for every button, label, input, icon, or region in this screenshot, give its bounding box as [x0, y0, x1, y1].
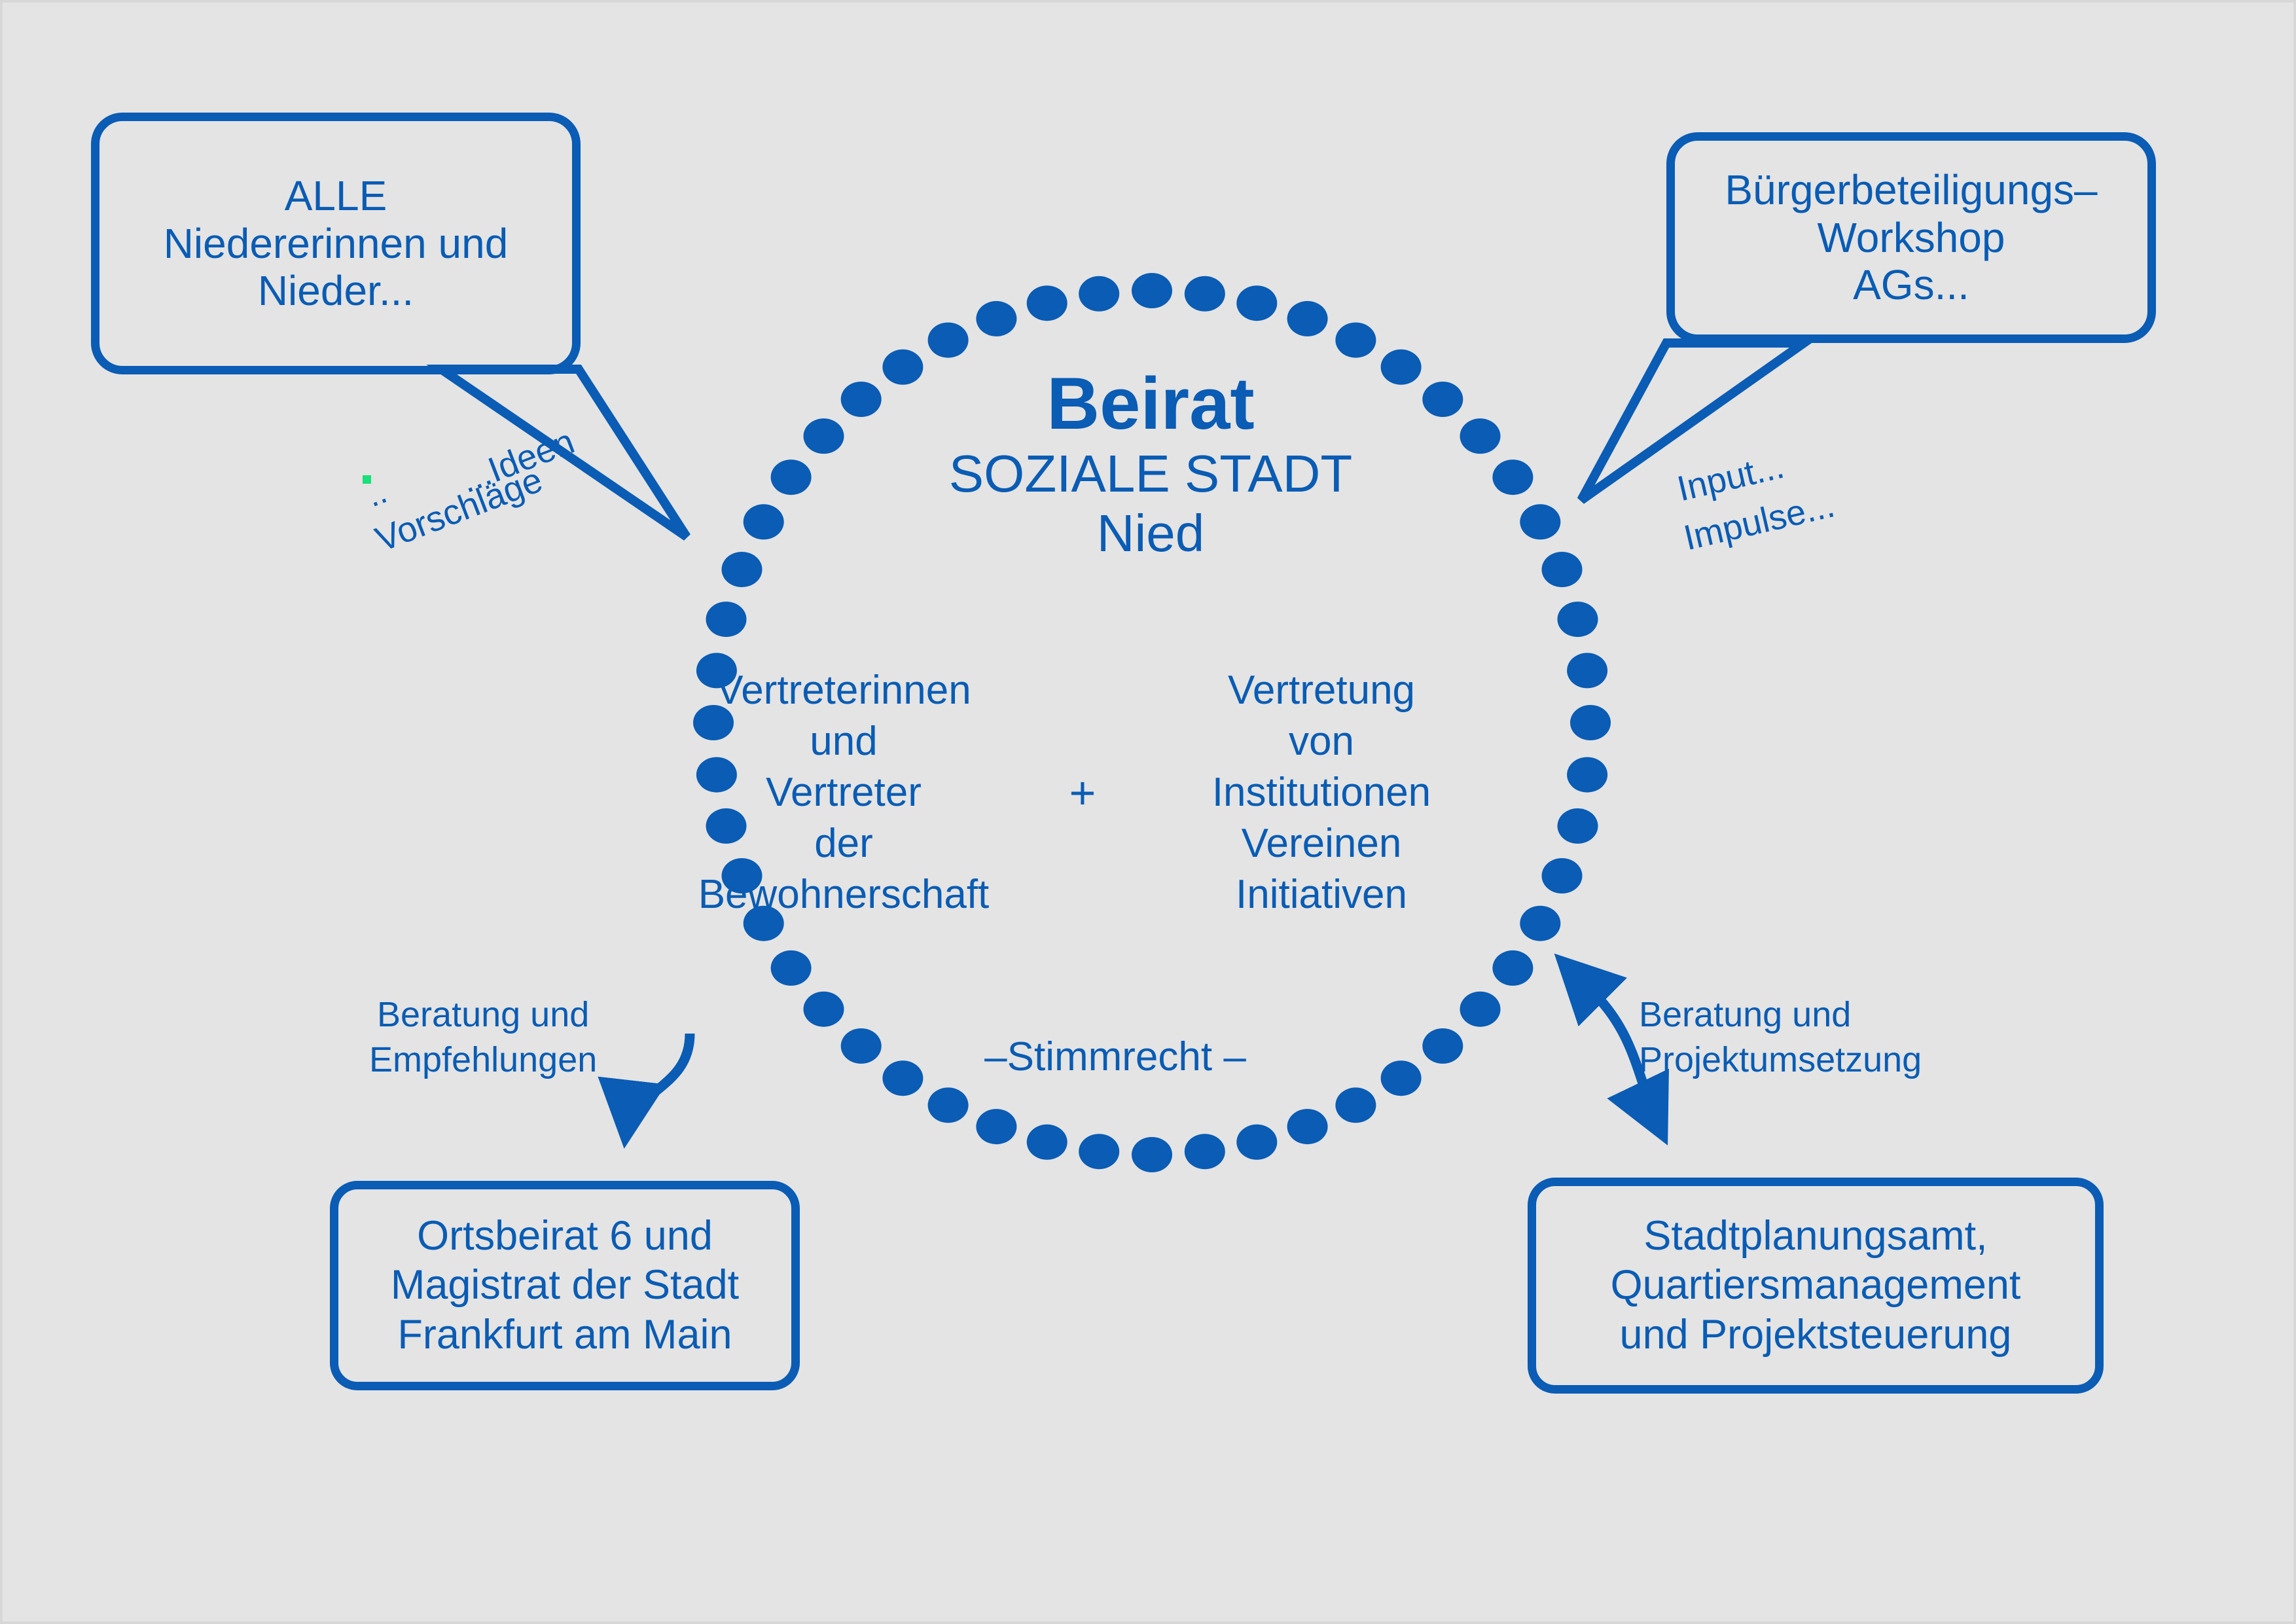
box-right-line-1: Stadtplanungsamt, — [1643, 1212, 1987, 1261]
right-col-line-5: Initiativen — [1168, 869, 1475, 920]
circle-subtitle: SOZIALE STADT — [791, 444, 1511, 503]
circle-heading-group: Beirat SOZIALE STADT Nied — [791, 365, 1511, 563]
box-ortsbeirat-magistrat[interactable]: Ortsbeirat 6 und Magistrat der Stadt Fra… — [330, 1181, 800, 1390]
box-left-line-2: Magistrat der Stadt — [391, 1261, 739, 1310]
label-beratung-empfehlungen-line-1: Beratung und — [369, 992, 597, 1038]
circle-dot — [928, 323, 969, 358]
circle-dot — [1567, 653, 1607, 688]
circle-dot — [1520, 906, 1560, 941]
circle-location: Nied — [791, 503, 1511, 563]
circle-dot — [1422, 1028, 1463, 1064]
circle-dot — [1558, 602, 1598, 637]
label-beratung-empfehlungen-line-2: Empfehlungen — [369, 1038, 597, 1083]
right-col-line-2: von — [1168, 716, 1475, 767]
membership-column-right: Vertretung von Institutionen Vereinen In… — [1168, 665, 1475, 921]
right-col-line-3: Institutionen — [1168, 767, 1475, 818]
circle-dot — [1460, 992, 1501, 1027]
circle-dot — [1558, 808, 1598, 844]
circle-dot — [1185, 276, 1225, 312]
circle-dot — [1236, 1125, 1277, 1160]
speech-bubble-left[interactable]: ALLE Niedererinnen und Nieder... — [91, 113, 581, 374]
circle-dot — [744, 504, 784, 539]
label-beratung-empfehlungen: Beratung und Empfehlungen — [369, 992, 597, 1083]
bubble-right-line-2: Workshop — [1818, 214, 2005, 262]
membership-column-left: Vertreterinnen und Vertreter der Bewohne… — [690, 665, 997, 921]
circle-dot — [1520, 504, 1560, 539]
circle-dot — [1287, 301, 1328, 336]
diagram-canvas: ALLE Niedererinnen und Nieder... Bürgerb… — [0, 0, 2296, 1624]
left-col-line-5: Bewohnerschaft — [690, 869, 997, 920]
box-left-line-1: Ortsbeirat 6 und — [417, 1212, 713, 1261]
circle-dot — [1027, 285, 1067, 321]
bubble-left-line-1: ALLE — [285, 172, 387, 220]
box-stadtplanungsamt[interactable]: Stadtplanungsamt, Quartiersmanagement un… — [1528, 1178, 2104, 1394]
bubble-left-line-2: Niedererinnen und — [164, 220, 509, 268]
speech-bubble-right[interactable]: Bürgerbeteiligungs– Workshop AGs... — [1666, 132, 2156, 343]
bubble-right-line-1: Bürgerbeteiligungs– — [1725, 166, 2097, 214]
left-col-line-3: Vertreter — [690, 767, 997, 818]
circle-dot — [976, 301, 1016, 336]
circle-dot — [771, 950, 812, 986]
circle-dot — [722, 552, 762, 587]
circle-dot — [1335, 323, 1376, 358]
right-col-line-4: Vereinen — [1168, 818, 1475, 869]
circle-dot — [1132, 1137, 1172, 1172]
circle-dot — [1570, 705, 1611, 740]
circle-dot — [804, 992, 844, 1027]
circle-dot — [1236, 285, 1277, 321]
circle-dot — [706, 602, 747, 637]
box-right-line-2: Quartiersmanagement — [1611, 1261, 2021, 1310]
plus-operator: + — [1053, 770, 1112, 816]
circle-dot — [1542, 858, 1583, 893]
circle-dot — [1335, 1087, 1376, 1123]
left-col-line-1: Vertreterinnen — [690, 665, 997, 716]
circle-dot — [928, 1087, 969, 1123]
box-left-line-3: Frankfurt am Main — [397, 1310, 732, 1360]
circle-dot — [1027, 1125, 1067, 1160]
circle-dot — [976, 1109, 1016, 1144]
circle-dot — [1287, 1109, 1328, 1144]
box-right-line-3: und Projektsteuerung — [1620, 1310, 2012, 1360]
circle-membership-columns: Vertreterinnen und Vertreter der Bewohne… — [690, 665, 1475, 921]
circle-title: Beirat — [791, 365, 1511, 444]
circle-dot — [1492, 950, 1533, 986]
bubble-right-line-3: AGs... — [1853, 261, 1969, 309]
arrow-beratung-empfehlungen — [626, 1034, 690, 1135]
label-beratung-projektumsetzung: Beratung und Projektumsetzung — [1639, 992, 1922, 1083]
label-beratung-projektumsetzung-line-1: Beratung und — [1639, 992, 1922, 1038]
circle-dot — [1079, 1134, 1119, 1169]
stimmrecht-note: –Stimmrecht – — [834, 1034, 1397, 1080]
bubble-left-line-3: Nieder... — [258, 267, 414, 315]
circle-dot — [1132, 273, 1172, 308]
right-col-line-1: Vertretung — [1168, 665, 1475, 716]
label-beratung-projektumsetzung-line-2: Projektumsetzung — [1639, 1038, 1922, 1083]
left-col-line-4: der — [690, 818, 997, 869]
circle-dot — [1079, 276, 1119, 312]
circle-dot — [1185, 1134, 1225, 1169]
circle-dot — [1567, 757, 1607, 793]
left-col-line-2: und — [690, 716, 997, 767]
circle-dot — [1542, 552, 1583, 587]
